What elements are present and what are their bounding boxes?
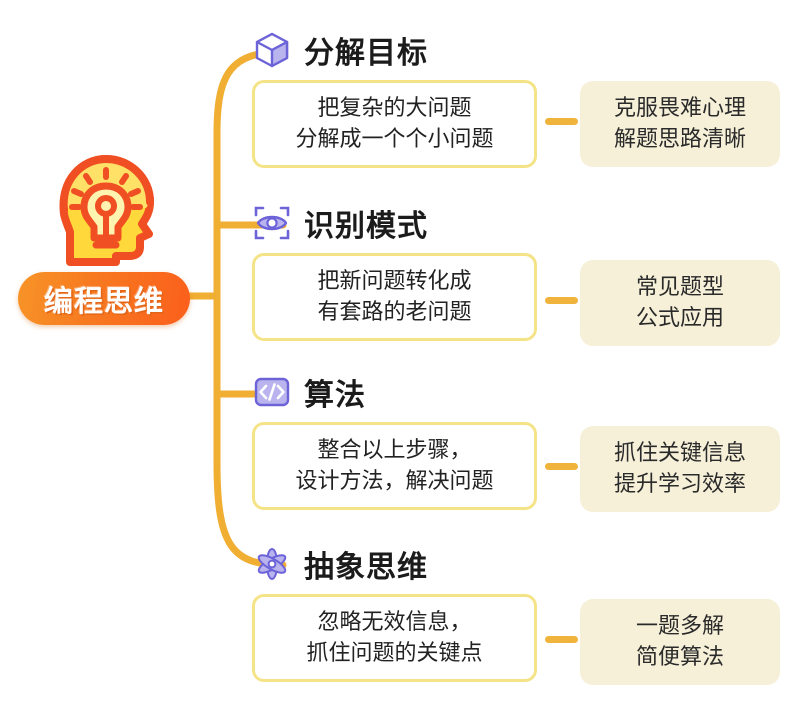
atom-icon <box>252 544 292 584</box>
note-line: 提升学习效率 <box>590 468 770 499</box>
note-panel-pattern: 常见题型 公式应用 <box>580 260 780 346</box>
center-pill[interactable]: 编程思维 <box>18 272 190 325</box>
note-panel-decompose: 克服畏难心理 解题思路清晰 <box>580 81 780 167</box>
note-connector-dash <box>545 118 578 125</box>
note-line: 一题多解 <box>590 610 770 641</box>
center-label: 编程思维 <box>44 278 164 320</box>
branch-algorithm[interactable]: 算法 整合以上步骤， 设计方法，解决问题 <box>252 368 537 510</box>
branch-header: 识别模式 <box>252 199 537 247</box>
branch-content-line: 把新问题转化成 <box>265 265 524 296</box>
note-line: 常见题型 <box>590 271 770 302</box>
head-lightbulb-icon <box>50 150 162 268</box>
note-line: 克服畏难心理 <box>590 92 770 123</box>
branch-content-box: 把新问题转化成 有套路的老问题 <box>252 253 537 341</box>
center-node[interactable]: 编程思维 <box>8 150 198 340</box>
branch-title: 识别模式 <box>304 201 428 245</box>
branch-abstraction[interactable]: 抽象思维 忽略无效信息， 抓住问题的关键点 <box>252 540 537 682</box>
branch-title: 抽象思维 <box>304 542 428 586</box>
branch-header: 算法 <box>252 368 537 416</box>
branch-content-line: 分解成一个个小问题 <box>265 123 524 154</box>
branch-content-line: 抓住问题的关键点 <box>265 637 524 668</box>
branch-content-box: 把复杂的大问题 分解成一个个小问题 <box>252 80 537 168</box>
branch-content-line: 有套路的老问题 <box>265 296 524 327</box>
note-connector-dash <box>545 636 578 643</box>
note-panel-algorithm: 抓住关键信息 提升学习效率 <box>580 426 780 512</box>
note-connector-dash <box>545 463 578 470</box>
note-line: 抓住关键信息 <box>590 437 770 468</box>
code-brackets-icon <box>252 372 292 412</box>
mindmap-canvas: 编程思维 分解目标 把复杂的大问题 分解成一个个小问题 克服畏难心理 解题思路清… <box>0 0 800 714</box>
branch-content-box: 忽略无效信息， 抓住问题的关键点 <box>252 594 537 682</box>
note-line: 解题思路清晰 <box>590 123 770 154</box>
note-line: 简便算法 <box>590 641 770 672</box>
branch-content-box: 整合以上步骤， 设计方法，解决问题 <box>252 422 537 510</box>
branch-content-line: 把复杂的大问题 <box>265 92 524 123</box>
branch-decompose[interactable]: 分解目标 把复杂的大问题 分解成一个个小问题 <box>252 26 537 168</box>
cube-3d-icon <box>252 30 292 70</box>
branch-header: 分解目标 <box>252 26 537 74</box>
note-line: 公式应用 <box>590 302 770 333</box>
branch-content-line: 整合以上步骤， <box>265 434 524 465</box>
branch-title: 算法 <box>304 370 366 414</box>
note-connector-dash <box>545 297 578 304</box>
note-panel-abstraction: 一题多解 简便算法 <box>580 599 780 685</box>
branch-content-line: 设计方法，解决问题 <box>265 465 524 496</box>
branch-pattern-recognition[interactable]: 识别模式 把新问题转化成 有套路的老问题 <box>252 199 537 341</box>
eye-scan-icon <box>252 203 292 243</box>
branch-header: 抽象思维 <box>252 540 537 588</box>
branch-title: 分解目标 <box>304 28 428 72</box>
branch-content-line: 忽略无效信息， <box>265 606 524 637</box>
